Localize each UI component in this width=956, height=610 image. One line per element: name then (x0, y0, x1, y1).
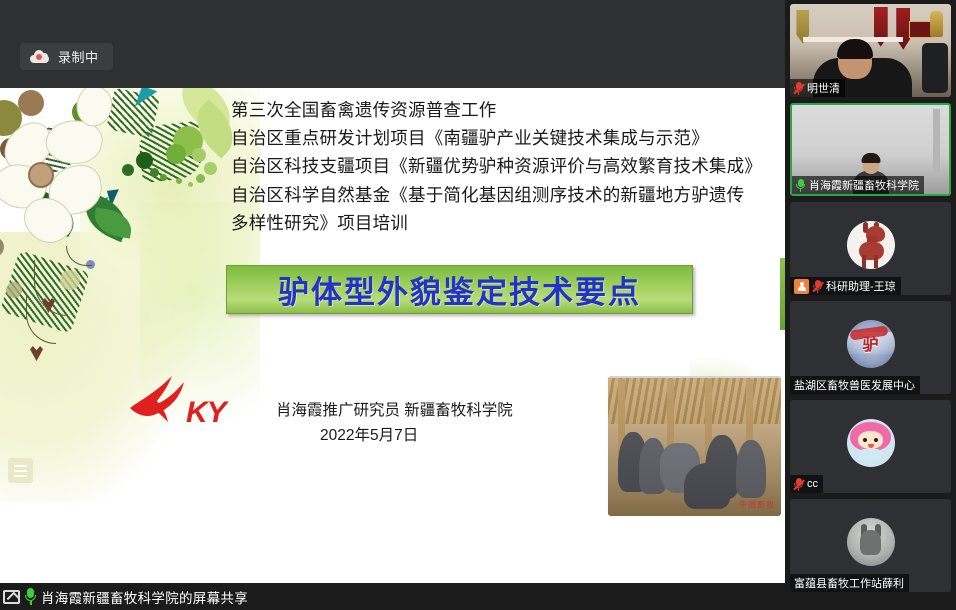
participant-tile-2[interactable]: 肖海霞新疆畜牧科学院 (790, 103, 951, 196)
list-menu-icon[interactable] (8, 458, 33, 483)
mic-muted-icon (813, 280, 822, 293)
headline-5: 多样性研究》项目培训 (231, 209, 771, 237)
participant-name-5: cc (807, 478, 818, 490)
participant-tile-6[interactable]: 富蕴县畜牧工作站薛利 (790, 499, 951, 592)
participant-namebar-3: 科研助理-王琼 (790, 277, 901, 295)
share-statusbar: 肖海霞新疆畜牧科学院的屏幕共享 (0, 583, 785, 610)
headline-4: 自治区科学自然基金《基于简化基因组测序技术的新疆地方驴遗传 (231, 181, 771, 209)
participant-namebar-4: 盐湖区畜牧兽医发展中心 (790, 376, 920, 394)
slide-headlines: 第三次全国畜禽遗传资源普查工作 自治区重点研发计划项目《南疆驴产业关键技术集成与… (231, 96, 771, 237)
participant-namebar-6: 富蕴县畜牧工作站薛利 (790, 574, 909, 592)
participant-namebar-5: cc (790, 475, 823, 493)
host-badge-icon (794, 279, 809, 294)
presentation-slide: 第三次全国畜禽遗传资源普查工作 自治区重点研发计划项目《南疆驴产业关键技术集成与… (0, 88, 785, 583)
zoom-meeting-window: 录制中 (0, 0, 956, 610)
sharing-status-text: 肖海霞新疆畜牧科学院的屏幕共享 (41, 587, 248, 607)
headline-1: 第三次全国畜禽遗传资源普查工作 (231, 96, 771, 124)
avatar-3 (847, 221, 895, 269)
shared-screen-area[interactable]: 录制中 (0, 0, 785, 610)
photo-stamp: 中国畜牧 (739, 499, 775, 510)
cloud-recording-icon (30, 50, 49, 63)
slide-title: 驴体型外貌鉴定技术要点 (278, 267, 641, 312)
participant-tile-3[interactable]: 科研助理-王琼 (790, 202, 951, 295)
headline-2: 自治区重点研发计划项目《南疆驴产业关键技术集成与示范》 (231, 124, 771, 152)
presentation-date: 2022年5月7日 (276, 423, 513, 448)
participant-rail[interactable]: 明世清 肖海霞新疆畜牧科学院 (785, 0, 956, 610)
avatar-5 (847, 419, 895, 467)
participant-name-3: 科研助理-王琼 (826, 278, 896, 294)
floral-decoration (0, 88, 260, 502)
participant-namebar-1: 明世清 (790, 79, 845, 97)
screen-share-icon (3, 590, 20, 604)
slide-author-block: 肖海霞推广研究员 新疆畜牧科学院 2022年5月7日 (276, 398, 513, 448)
headline-3: 自治区科技支疆项目《新疆优势驴种资源评价与高效繁育技术集成》 (231, 152, 771, 180)
share-topbar: 录制中 (0, 0, 785, 88)
participant-name-2: 肖海霞新疆畜牧科学院 (809, 177, 919, 193)
participant-tile-5[interactable]: cc (790, 400, 951, 493)
participant-name-1: 明世清 (807, 80, 840, 96)
avatar-emblem-text: 驴 (862, 331, 878, 355)
mic-on-icon (796, 179, 805, 192)
mic-muted-icon (794, 478, 803, 491)
recording-indicator[interactable]: 录制中 (20, 43, 113, 70)
slide-title-banner: 驴体型外貌鉴定技术要点 (226, 265, 693, 314)
recording-label: 录制中 (58, 47, 99, 66)
participant-name-6: 富蕴县畜牧工作站薛利 (794, 575, 904, 591)
microphone-icon[interactable] (25, 588, 36, 605)
participant-tile-4[interactable]: 驴 盐湖区畜牧兽医发展中心 (790, 301, 951, 394)
ky-logo-text: KY (186, 396, 226, 430)
donkey-barn-photo: 中国畜牧 (608, 376, 781, 516)
presenter-name: 肖海霞推广研究员 新疆畜牧科学院 (276, 398, 513, 423)
participant-namebar-2: 肖海霞新疆畜牧科学院 (792, 176, 924, 194)
ky-logo: KY (126, 368, 238, 438)
mic-muted-icon (794, 82, 803, 95)
avatar-6 (847, 518, 895, 566)
participant-tile-1[interactable]: 明世清 (790, 4, 951, 97)
avatar-4: 驴 (847, 320, 895, 368)
participant-name-4: 盐湖区畜牧兽医发展中心 (794, 377, 915, 393)
